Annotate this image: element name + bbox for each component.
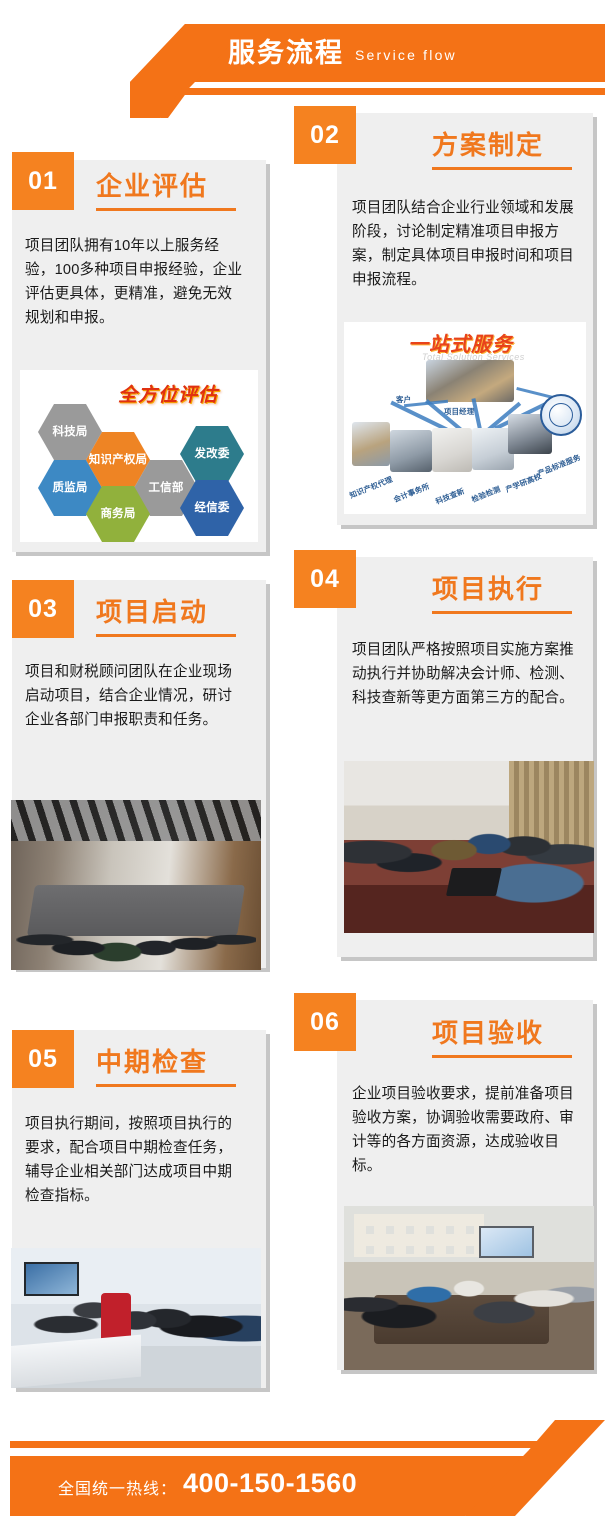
photo-people-group (344, 809, 594, 912)
photo-people-row (16, 899, 256, 967)
card-title-rule-01 (96, 208, 236, 211)
figure-label-product-standard: 产品标准服务 (536, 452, 582, 479)
figure-iso-seal (540, 394, 582, 436)
figure-hexagon-diagram: 全方位评估 科技局 知识产权局 质监局 工信部 商务局 发改委 经信委 (20, 370, 258, 542)
card-number-badge-04: 04 (294, 550, 356, 608)
card-title-rule-06 (432, 1055, 572, 1058)
card-photo-06 (344, 1206, 594, 1370)
card-number-badge-03: 03 (12, 580, 74, 638)
card-title-rule-02 (432, 167, 572, 170)
card-title-01: 企业评估 (96, 166, 208, 203)
figure-one-stop-service: 一站式服务 Total Solution Services 客户 项目经理 知识… (344, 322, 586, 514)
card-title-06: 项目验收 (432, 1013, 544, 1050)
card-title-04: 项目执行 (432, 569, 544, 606)
card-title-03: 项目启动 (96, 592, 208, 629)
photo-projector-screen (479, 1226, 534, 1259)
card-body-02: 项目团队结合企业行业领域和发展阶段，讨论制定精准项目申报方案，制定具体项目申报时… (352, 196, 574, 292)
figure-label-ip-agency: 知识产权代理 (348, 474, 394, 501)
card-body-06: 企业项目验收要求，提前准备项目验收方案，协调验收需要政府、审计等的各方面资源，达… (352, 1082, 574, 1178)
figure-node-photo-1 (352, 422, 390, 466)
page-subtitle: Service flow (355, 45, 457, 65)
photo-laptop (446, 868, 502, 896)
footer-accent-line (10, 1441, 555, 1448)
card-title-rule-03 (96, 634, 236, 637)
figure-title-all-round-assessment: 全方位评估 (118, 380, 218, 407)
card-body-05: 项目执行期间，按照项目执行的要求，配合项目中期检查任务，辅导企业相关部门达成项目… (25, 1112, 243, 1208)
figure-label-tech-novelty-search: 科技查新 (434, 485, 466, 507)
card-number-badge-02: 02 (294, 106, 356, 164)
page-header: 服务流程 Service flow (0, 0, 605, 118)
header-banner-diagonal (130, 82, 260, 118)
card-title-02: 方案制定 (432, 125, 544, 162)
card-body-04: 项目团队严格按照项目实施方案推动执行并协助解决会计师、检测、科技查新等更方面第三… (352, 638, 574, 710)
page-footer: 全国统一热线： 400-150-1560 (0, 1400, 605, 1538)
photo-attendees (344, 1255, 594, 1353)
card-photo-03 (11, 800, 261, 970)
card-photo-04 (344, 761, 594, 933)
card-title-rule-05 (96, 1084, 236, 1087)
service-flow-poster: 服务流程 Service flow 01 企业评估 项目团队拥有10年以上服务经… (0, 0, 605, 1538)
photo-certificate-wall (354, 1214, 484, 1257)
card-body-03: 项目和财税顾问团队在企业现场启动项目，结合企业情况，研讨企业各部门申报职责和任务… (25, 660, 243, 732)
figure-label-inspection-testing: 检验检测 (470, 483, 502, 505)
hotline-number[interactable]: 400-150-1560 (183, 1468, 357, 1499)
card-number-badge-05: 05 (12, 1030, 74, 1088)
figure-node-photo-2 (390, 430, 432, 472)
card-number-badge-06: 06 (294, 993, 356, 1051)
card-number-badge-01: 01 (12, 152, 74, 210)
card-photo-05 (11, 1248, 261, 1388)
figure-center-photo (426, 360, 514, 402)
header-accent-line (168, 88, 605, 95)
figure-label-accounting-firm: 会计事务所 (392, 481, 431, 505)
card-title-rule-04 (432, 611, 572, 614)
figure-label-project-manager: 项目经理 (444, 406, 474, 417)
photo-ceiling-pattern (11, 800, 261, 841)
hotline-label: 全国统一热线： (58, 1475, 177, 1499)
card-title-05: 中期检查 (96, 1042, 208, 1079)
figure-node-photo-3 (432, 428, 472, 472)
page-title: 服务流程 (228, 36, 344, 70)
card-body-01: 项目团队拥有10年以上服务经验，100多种项目申报经验，企业评估更具体，更精准，… (25, 234, 243, 330)
